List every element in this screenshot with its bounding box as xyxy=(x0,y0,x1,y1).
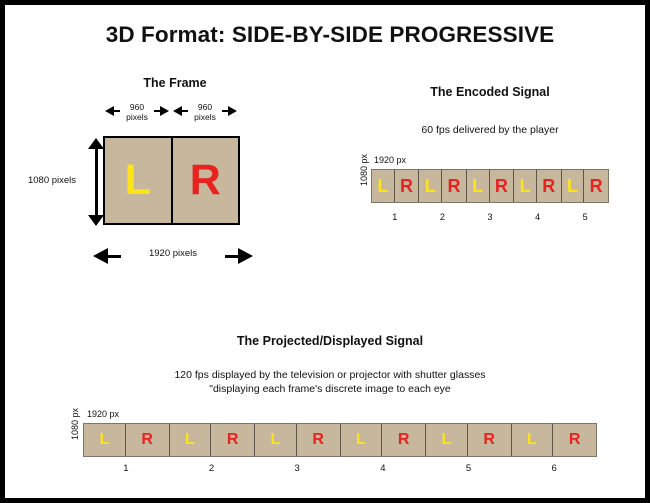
cell-letter: L xyxy=(442,432,452,448)
frame-dim-960-right-text: 960 pixels xyxy=(194,102,216,122)
dimension-arrow-horizontal: 960 pixels xyxy=(103,102,171,130)
dimension-line-vertical xyxy=(95,144,98,220)
cell-letter: L xyxy=(377,177,388,195)
strip-cell: R xyxy=(468,424,512,456)
frame-dim-960-right: 960 pixels xyxy=(171,102,239,130)
frame-number: 1 xyxy=(371,212,419,222)
strip-cell: L xyxy=(562,170,585,202)
cell-letter: L xyxy=(527,432,537,448)
cell-letter: L xyxy=(271,432,281,448)
encoded-section-heading: The Encoded Signal xyxy=(365,85,615,99)
cell-letter: R xyxy=(227,432,239,448)
cell-letter: R xyxy=(400,177,413,195)
dimension-arrow-horizontal: 960 pixels xyxy=(171,102,239,130)
strip-cell: L xyxy=(419,170,442,202)
frame-number: 2 xyxy=(169,463,255,474)
cell-letter: R xyxy=(312,432,324,448)
diagram-canvas: 3D Format: SIDE-BY-SIDE PROGRESSIVE The … xyxy=(0,0,650,503)
arrow-right-icon xyxy=(160,106,169,116)
strip-cell: L xyxy=(84,424,126,456)
frame-number: 6 xyxy=(511,463,597,474)
right-eye-letter: R xyxy=(190,159,221,202)
frame-number: 5 xyxy=(426,463,512,474)
cell-letter: R xyxy=(495,177,508,195)
strip-cell: R xyxy=(442,170,467,202)
frame-number: 2 xyxy=(419,212,467,222)
strip-cell: L xyxy=(255,424,297,456)
encoded-width-label: 1920 px xyxy=(374,155,406,165)
cell-letter: L xyxy=(185,432,195,448)
frame-half-left: L xyxy=(105,138,171,223)
cell-letter: L xyxy=(520,177,531,195)
cell-letter: R xyxy=(141,432,153,448)
arrow-bar-left xyxy=(181,110,188,112)
cell-letter: R xyxy=(483,432,495,448)
projected-section-caption: 120 fps displayed by the television or p… xyxy=(100,368,560,396)
projected-frame-numbers: 1 2 3 4 5 6 xyxy=(83,463,597,474)
frame-number: 4 xyxy=(514,212,562,222)
projected-width-label: 1920 px xyxy=(87,409,119,419)
frame-half-right: R xyxy=(171,138,239,223)
frame-dim-1920-horizontal: 1920 pixels xyxy=(93,245,253,269)
cell-letter: L xyxy=(425,177,436,195)
frame-rectangle: L R xyxy=(103,136,240,225)
frame-dim-960-left-text: 960 pixels xyxy=(126,102,148,122)
cell-letter: R xyxy=(542,177,555,195)
arrow-bar-left xyxy=(113,110,120,112)
strip-cell: R xyxy=(297,424,341,456)
strip-cell: R xyxy=(211,424,255,456)
frame-number: 4 xyxy=(340,463,426,474)
cell-letter: L xyxy=(472,177,483,195)
cell-letter: L xyxy=(100,432,110,448)
arrow-right-icon xyxy=(228,106,237,116)
frame-dim-1920-label: 1920 pixels xyxy=(121,248,225,259)
encoded-frame-numbers: 1 2 3 4 5 xyxy=(371,212,609,222)
left-eye-letter: L xyxy=(125,159,151,202)
strip-cell: R xyxy=(490,170,515,202)
frame-dim-1080-label: 1080 pixels xyxy=(15,174,89,187)
arrow-down-icon xyxy=(88,215,104,226)
strip-cell: L xyxy=(512,424,554,456)
page-title: 3D Format: SIDE-BY-SIDE PROGRESSIVE xyxy=(5,22,650,48)
frame-number: 3 xyxy=(254,463,340,474)
cell-letter: R xyxy=(590,177,603,195)
strip-cell: L xyxy=(467,170,490,202)
strip-cell: L xyxy=(341,424,383,456)
arrow-right-icon xyxy=(238,248,253,264)
frame-dim-960-right-unit: pixels xyxy=(194,112,216,122)
frame-number: 3 xyxy=(466,212,514,222)
cell-letter: R xyxy=(398,432,410,448)
strip-cell: R xyxy=(382,424,426,456)
strip-cell: R xyxy=(537,170,562,202)
frame-dim-960-left-unit: pixels xyxy=(126,112,148,122)
cell-letter: L xyxy=(356,432,366,448)
frame-dim-960-left: 960 pixels xyxy=(103,102,171,130)
strip-cell: L xyxy=(514,170,537,202)
projected-caption-line-2: "displaying each frame's discrete image … xyxy=(100,382,560,396)
cell-letter: L xyxy=(567,177,578,195)
cell-letter: R xyxy=(569,432,581,448)
strip-cell: R xyxy=(584,170,608,202)
frame-section-heading: The Frame xyxy=(80,76,270,90)
strip-cell: L xyxy=(426,424,468,456)
projected-height-label: 1080 px xyxy=(70,403,80,445)
frame-dim-1080-vertical: 1080 pixels xyxy=(33,138,103,226)
frame-dim-960-right-value: 960 xyxy=(198,102,212,112)
strip-cell: L xyxy=(170,424,212,456)
strip-cell: L xyxy=(372,170,395,202)
projected-section-heading: The Projected/Displayed Signal xyxy=(180,334,480,348)
encoded-signal-strip: L R L R L R L R L R xyxy=(371,169,609,203)
frame-number: 1 xyxy=(83,463,169,474)
frame-number: 5 xyxy=(561,212,609,222)
strip-cell: R xyxy=(126,424,170,456)
projected-signal-strip: L R L R L R L R L R L R xyxy=(83,423,597,457)
projected-caption-line-1: 120 fps displayed by the television or p… xyxy=(100,368,560,382)
frame-dim-960-left-value: 960 xyxy=(130,102,144,112)
strip-cell: R xyxy=(395,170,420,202)
encoded-section-caption: 60 fps delivered by the player xyxy=(345,123,635,137)
cell-letter: R xyxy=(447,177,460,195)
encoded-height-label: 1080 px xyxy=(359,149,369,191)
strip-cell: R xyxy=(553,424,596,456)
